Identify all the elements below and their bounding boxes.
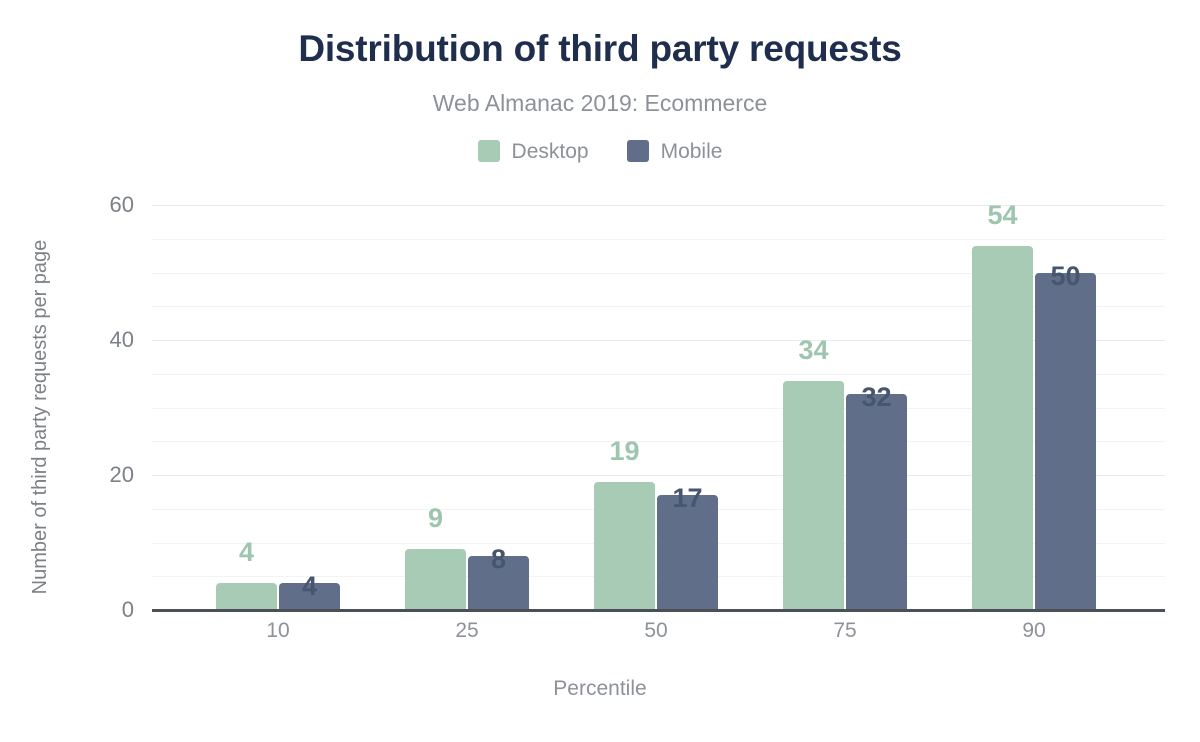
x-axis-title: Percentile	[0, 678, 1200, 699]
bar-mobile-75[interactable]	[846, 394, 907, 610]
bar-desktop-75[interactable]	[783, 381, 844, 611]
bar-value-label: 34	[754, 337, 874, 364]
bar-value-label: 54	[943, 202, 1063, 229]
gridline	[152, 239, 1165, 240]
y-axis-ticks: 0204060	[72, 0, 134, 742]
y-tick-label: 60	[74, 194, 134, 216]
bar-value-label: 32	[817, 384, 937, 411]
x-axis-line	[152, 609, 1165, 612]
x-tick-label: 25	[397, 620, 537, 641]
y-tick-label: 40	[74, 329, 134, 351]
bar-desktop-90[interactable]	[972, 246, 1033, 611]
bar-value-label: 4	[187, 539, 307, 566]
bar-value-label: 4	[250, 573, 370, 600]
x-tick-label: 50	[586, 620, 726, 641]
bar-value-label: 19	[565, 438, 685, 465]
y-tick-label: 0	[74, 599, 134, 621]
bar-mobile-90[interactable]	[1035, 273, 1096, 611]
x-tick-label: 75	[775, 620, 915, 641]
bar-value-label: 17	[628, 485, 748, 512]
y-tick-label: 20	[74, 464, 134, 486]
chart-container: Distribution of third party requests Web…	[0, 0, 1200, 742]
bar-value-label: 9	[376, 505, 496, 532]
y-axis-title: Number of third party requests per page	[30, 217, 50, 617]
plot-area: 4498191734325450	[152, 205, 1165, 610]
bar-value-label: 8	[439, 546, 559, 573]
plot-wrap: 4498191734325450 0204060 Number of third…	[0, 0, 1200, 742]
x-tick-label: 10	[208, 620, 348, 641]
bar-value-label: 50	[1006, 263, 1126, 290]
x-tick-label: 90	[964, 620, 1104, 641]
